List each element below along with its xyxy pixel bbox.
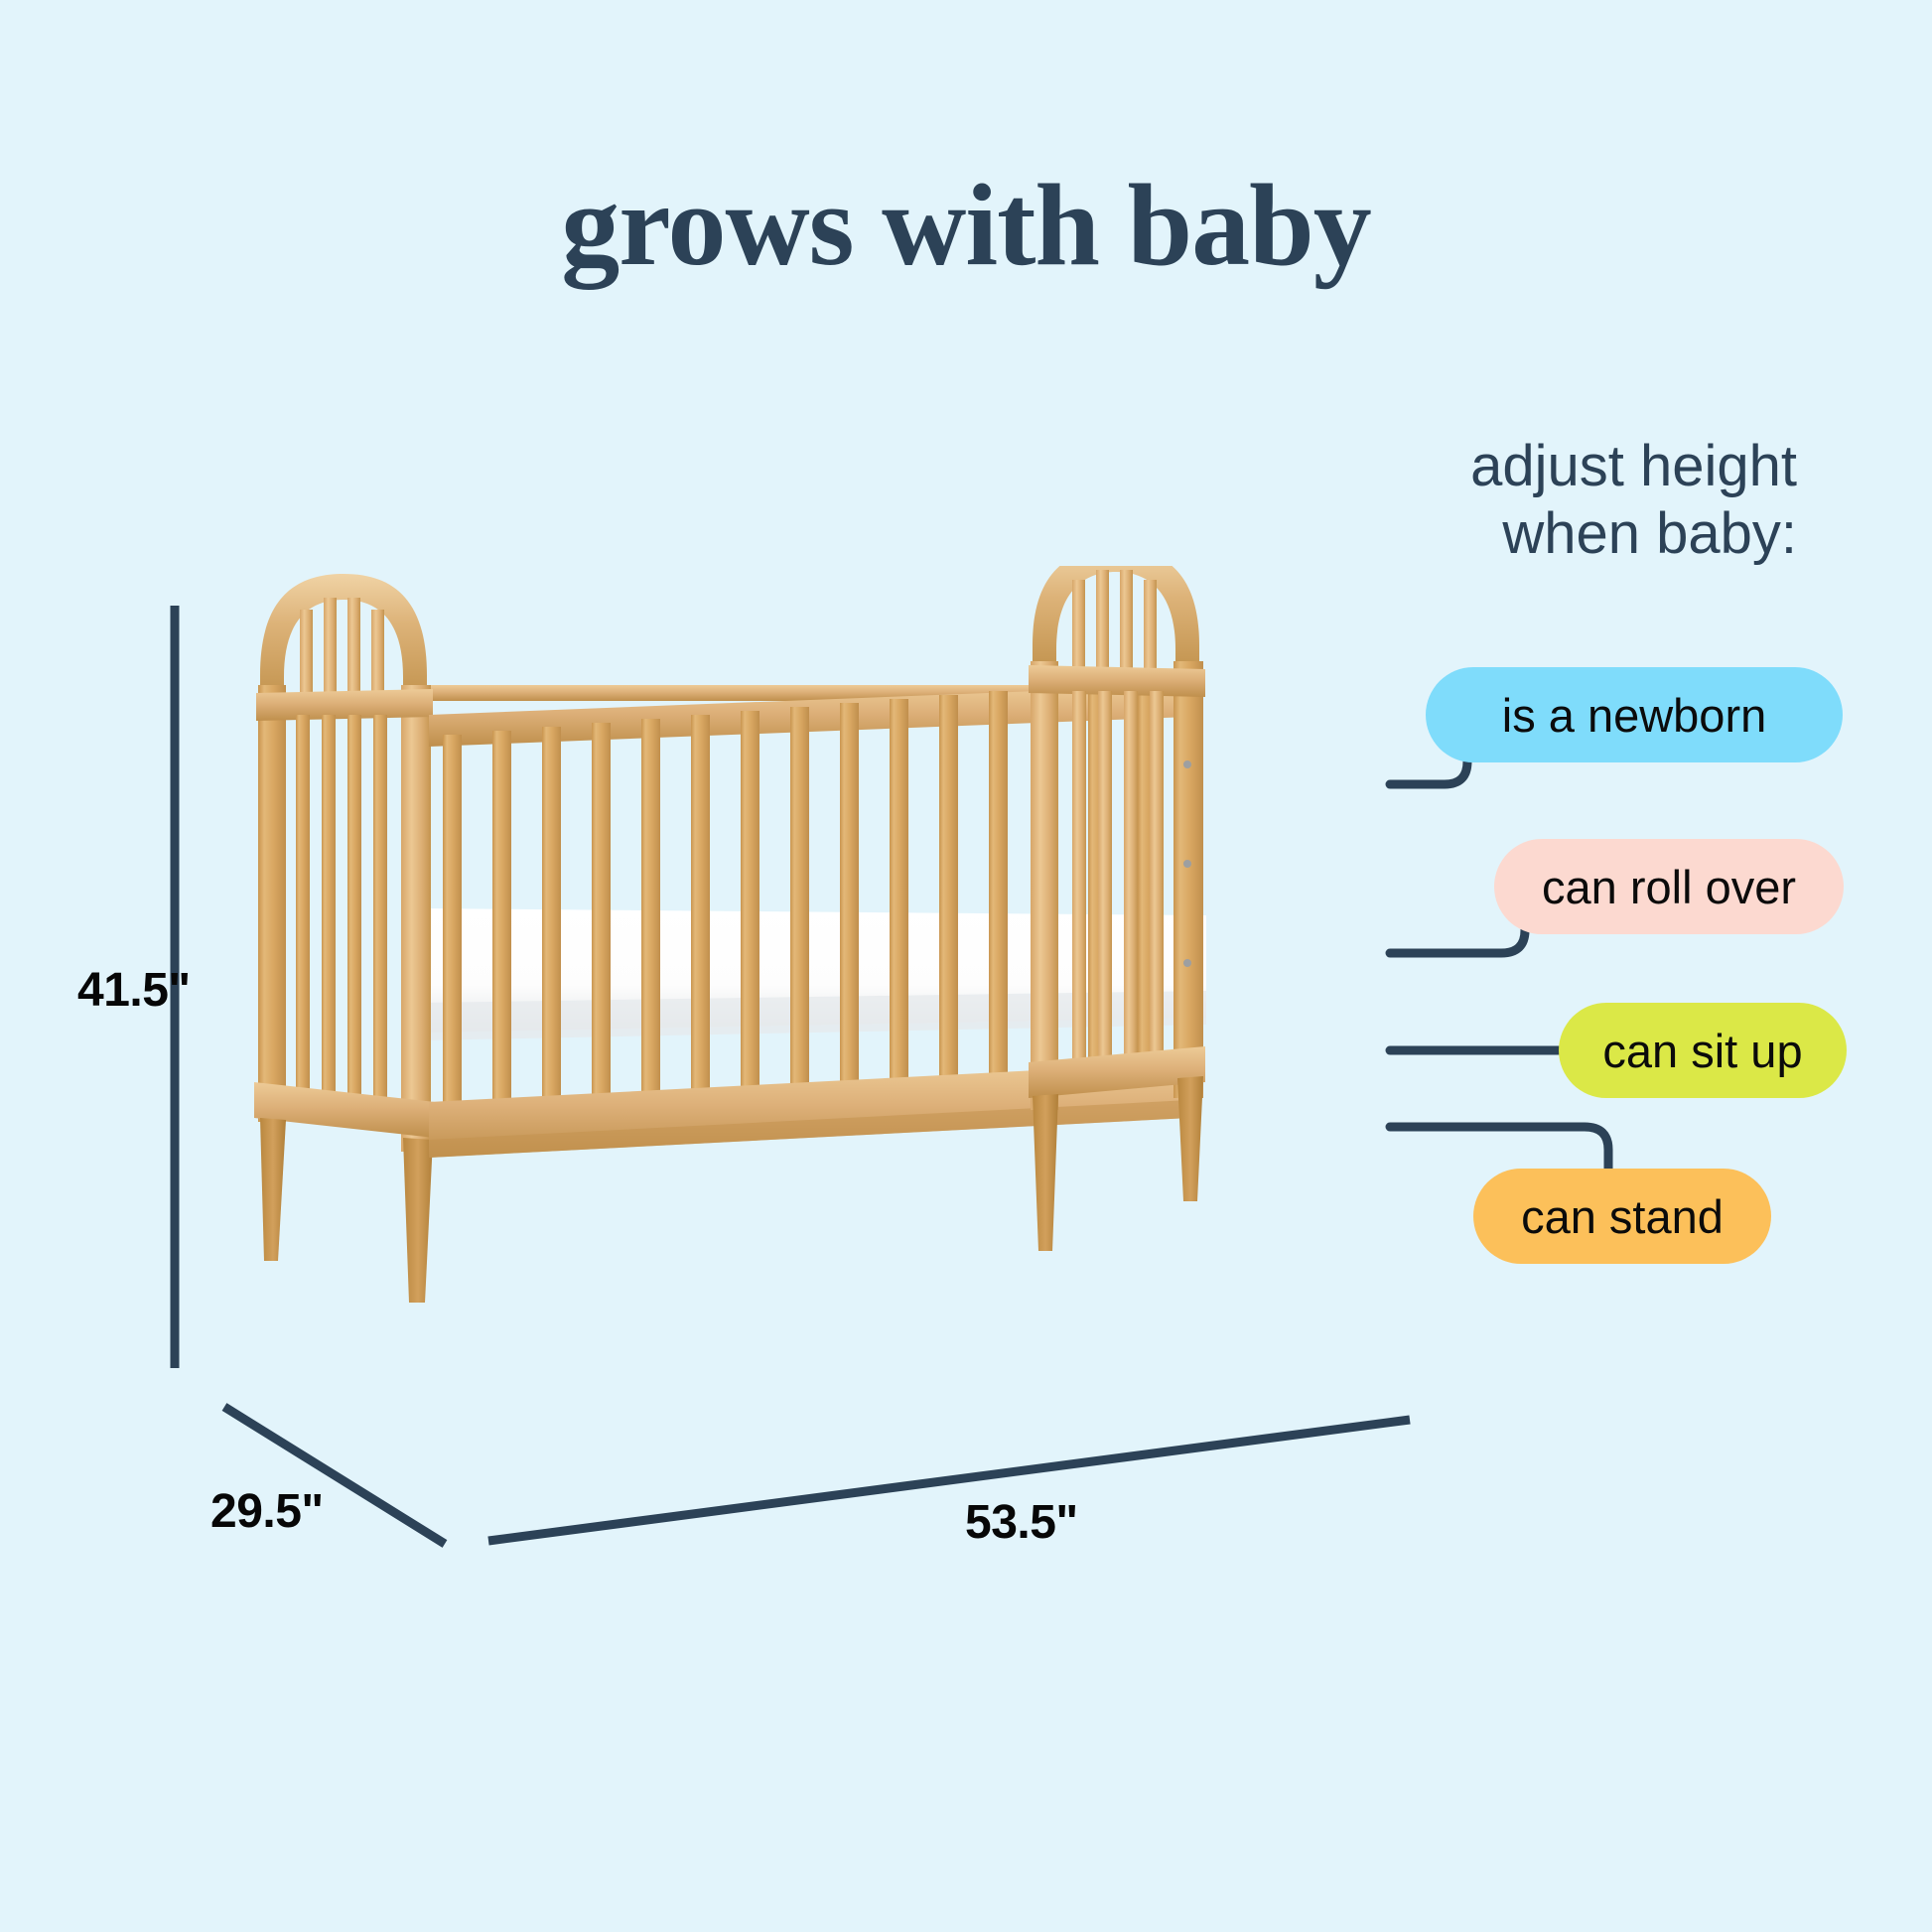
milestone-pill-stand: can stand	[1473, 1169, 1771, 1264]
milestone-pill-newborn: is a newborn	[1426, 667, 1843, 762]
milestone-pill-roll-over: can roll over	[1494, 839, 1844, 934]
adjust-heading-line1: adjust height	[1281, 433, 1797, 500]
adjust-height-heading: adjust height when baby:	[1281, 433, 1797, 568]
adjust-heading-line2: when baby:	[1281, 500, 1797, 568]
dimension-label-depth: 29.5"	[210, 1484, 324, 1539]
dimension-label-width: 53.5"	[965, 1495, 1078, 1550]
dimension-line-width	[488, 1420, 1410, 1541]
dimension-label-height: 41.5"	[77, 963, 191, 1018]
annotation-lines	[0, 0, 1932, 1932]
infographic-canvas: grows with baby	[0, 0, 1932, 1932]
milestone-pill-sit-up: can sit up	[1559, 1003, 1847, 1098]
